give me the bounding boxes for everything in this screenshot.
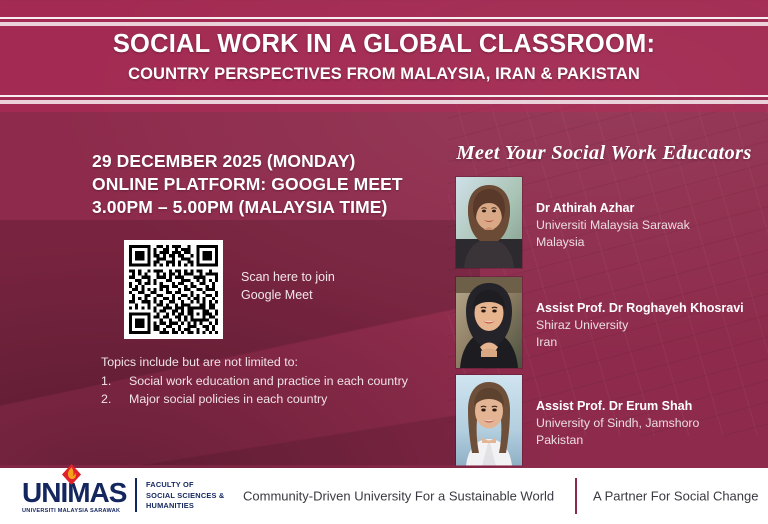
- topic-text: Social work education and practice in ea…: [129, 373, 421, 391]
- qr-caption-line2: Google Meet: [241, 287, 335, 305]
- speakers-heading: Meet Your Social Work Educators: [440, 142, 768, 165]
- footer-tagline-divider: [575, 478, 577, 514]
- qr-caption: Scan here to join Google Meet: [241, 269, 335, 305]
- qr-row: Scan here to join Google Meet: [124, 240, 335, 339]
- faculty-name: FACULTY OF SOCIAL SCIENCES & HUMANITIES: [146, 480, 224, 512]
- header-rule-top: [0, 17, 768, 26]
- faculty-line-1: FACULTY OF: [146, 480, 224, 491]
- qr-caption-line1: Scan here to join: [241, 269, 335, 287]
- speaker-organization: Shiraz University: [536, 317, 744, 334]
- unimas-logo: UNIMAS UNIVERSITI MALAYSIA SARAWAK: [22, 479, 126, 514]
- avatar: [456, 277, 522, 368]
- speaker-info: Dr Athirah Azhar Universiti Malaysia Sar…: [536, 177, 690, 251]
- speaker-name: Dr Athirah Azhar: [536, 200, 690, 217]
- unimas-logo-block: UNIMAS UNIVERSITI MALAYSIA SARAWAK FACUL…: [22, 478, 224, 514]
- speaker-country: Malaysia: [536, 234, 690, 251]
- topics-list: 1. Social work education and practice in…: [101, 373, 421, 409]
- title-main: SOCIAL WORK IN A GLOBAL CLASSROOM:: [0, 30, 768, 59]
- speaker-card: Dr Athirah Azhar Universiti Malaysia Sar…: [456, 177, 690, 268]
- avatar: [456, 177, 522, 268]
- speaker-card: Assist Prof. Dr Roghayeh Khosravi Shiraz…: [456, 277, 744, 368]
- page-title: SOCIAL WORK IN A GLOBAL CLASSROOM: COUNT…: [0, 30, 768, 84]
- topic-number: 1.: [101, 373, 129, 391]
- qr-code[interactable]: [124, 240, 223, 339]
- speaker-info: Assist Prof. Dr Roghayeh Khosravi Shiraz…: [536, 277, 744, 351]
- event-date: 29 DECEMBER 2025 (MONDAY): [92, 150, 432, 173]
- faculty-line-3: HUMANITIES: [146, 501, 224, 512]
- speaker-photo-athirah-azhar: [456, 177, 522, 268]
- speaker-name: Assist Prof. Dr Erum Shah: [536, 398, 699, 415]
- logo-divider: [135, 478, 137, 512]
- speaker-organization: Universiti Malaysia Sarawak: [536, 217, 690, 234]
- topics-lead: Topics include but are not limited to:: [101, 354, 421, 372]
- header-rule-bottom: [0, 95, 768, 104]
- topics-block: Topics include but are not limited to: 1…: [101, 354, 421, 409]
- footer-tagline-university: Community-Driven University For a Sustai…: [243, 489, 554, 504]
- event-platform: ONLINE PLATFORM: GOOGLE MEET: [92, 173, 432, 196]
- topic-text: Major social policies in each country: [129, 391, 421, 409]
- qr-code-icon: [129, 245, 218, 334]
- faculty-line-2: SOCIAL SCIENCES &: [146, 491, 224, 502]
- speaker-country: Pakistan: [536, 432, 699, 449]
- unimas-tagline: UNIVERSITI MALAYSIA SARAWAK: [22, 508, 126, 514]
- list-item: 2. Major social policies in each country: [101, 391, 421, 409]
- speaker-photo-roghayeh-khosravi: [456, 277, 522, 368]
- speaker-organization: University of Sindh, Jamshoro: [536, 415, 699, 432]
- title-subtitle: COUNTRY PERSPECTIVES FROM MALAYSIA, IRAN…: [0, 65, 768, 84]
- speaker-country: Iran: [536, 334, 744, 351]
- speaker-card: Assist Prof. Dr Erum Shah University of …: [456, 375, 699, 466]
- footer-bar: UNIMAS UNIVERSITI MALAYSIA SARAWAK FACUL…: [0, 468, 768, 524]
- poster-root: SOCIAL WORK IN A GLOBAL CLASSROOM: COUNT…: [0, 0, 768, 524]
- footer-top-strip: [0, 465, 768, 468]
- topic-number: 2.: [101, 391, 129, 409]
- speaker-name: Assist Prof. Dr Roghayeh Khosravi: [536, 300, 744, 317]
- unimas-flame-icon: [62, 464, 81, 485]
- event-time: 3.00PM – 5.00PM (MALAYSIA TIME): [92, 196, 432, 219]
- event-details: 29 DECEMBER 2025 (MONDAY) ONLINE PLATFOR…: [92, 150, 432, 219]
- right-column: Meet Your Social Work Educators: [440, 126, 768, 466]
- list-item: 1. Social work education and practice in…: [101, 373, 421, 391]
- speaker-info: Assist Prof. Dr Erum Shah University of …: [536, 375, 699, 449]
- speaker-photo-erum-shah: [456, 375, 522, 466]
- left-column: 29 DECEMBER 2025 (MONDAY) ONLINE PLATFOR…: [0, 126, 440, 466]
- avatar: [456, 375, 522, 466]
- footer-tagline-partner: A Partner For Social Change: [593, 489, 758, 504]
